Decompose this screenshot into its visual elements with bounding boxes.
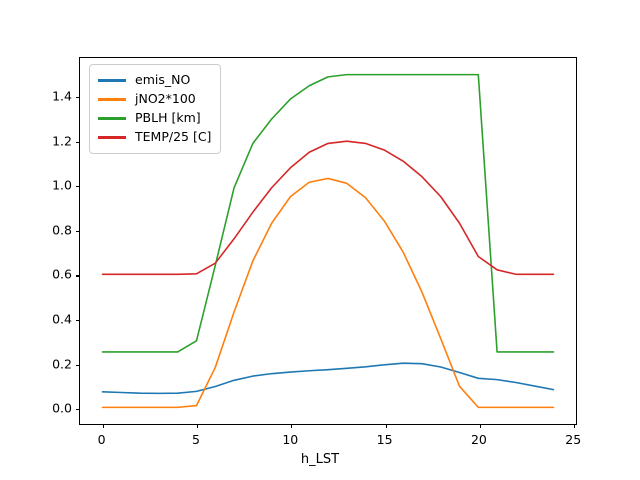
x-tick-label: 10	[282, 432, 298, 447]
legend-color-swatch	[98, 117, 126, 119]
x-tick-label: 25	[565, 432, 581, 447]
y-tick-label: 0.8	[28, 222, 72, 237]
x-tick-label: 5	[192, 432, 200, 447]
y-tick-label: 1.2	[28, 133, 72, 148]
legend-color-swatch	[98, 98, 126, 100]
y-tick-label: 0.2	[28, 356, 72, 371]
x-tick-mark	[103, 424, 104, 428]
legend-color-swatch	[98, 79, 126, 81]
series-line	[103, 178, 554, 407]
legend: emis_NOjNO2*100PBLH [km]TEMP/25 [C]	[89, 64, 221, 154]
y-tick-mark	[76, 320, 80, 321]
y-tick-label: 1.4	[28, 89, 72, 104]
y-tick-label: 0.6	[28, 267, 72, 282]
x-tick-mark	[574, 424, 575, 428]
series-line	[103, 363, 554, 393]
x-tick-label: 15	[377, 432, 393, 447]
legend-item: jNO2*100	[98, 90, 211, 109]
y-tick-mark	[76, 365, 80, 366]
legend-label: TEMP/25 [C]	[135, 131, 211, 144]
legend-label: emis_NO	[135, 74, 190, 87]
legend-label: PBLH [km]	[135, 112, 201, 125]
x-axis-label: h_LST	[0, 452, 640, 467]
y-tick-label: 0.0	[28, 401, 72, 416]
y-tick-mark	[76, 186, 80, 187]
y-tick-label: 0.4	[28, 312, 72, 327]
x-tick-label: 0	[98, 432, 106, 447]
y-tick-mark	[76, 275, 80, 276]
matplotlib-figure: 0.00.20.40.60.81.01.21.4 0510152025 h_LS…	[0, 0, 640, 480]
x-tick-mark	[197, 424, 198, 428]
x-tick-label: 20	[471, 432, 487, 447]
y-tick-mark	[76, 409, 80, 410]
legend-item: PBLH [km]	[98, 109, 211, 128]
y-tick-label: 1.0	[28, 178, 72, 193]
legend-item: emis_NO	[98, 71, 211, 90]
legend-color-swatch	[98, 136, 126, 138]
y-tick-mark	[76, 231, 80, 232]
legend-item: TEMP/25 [C]	[98, 128, 211, 147]
y-tick-mark	[76, 97, 80, 98]
y-tick-mark	[76, 142, 80, 143]
x-tick-mark	[291, 424, 292, 428]
series-line	[103, 141, 554, 274]
x-tick-mark	[480, 424, 481, 428]
legend-label: jNO2*100	[135, 93, 196, 106]
x-tick-mark	[386, 424, 387, 428]
